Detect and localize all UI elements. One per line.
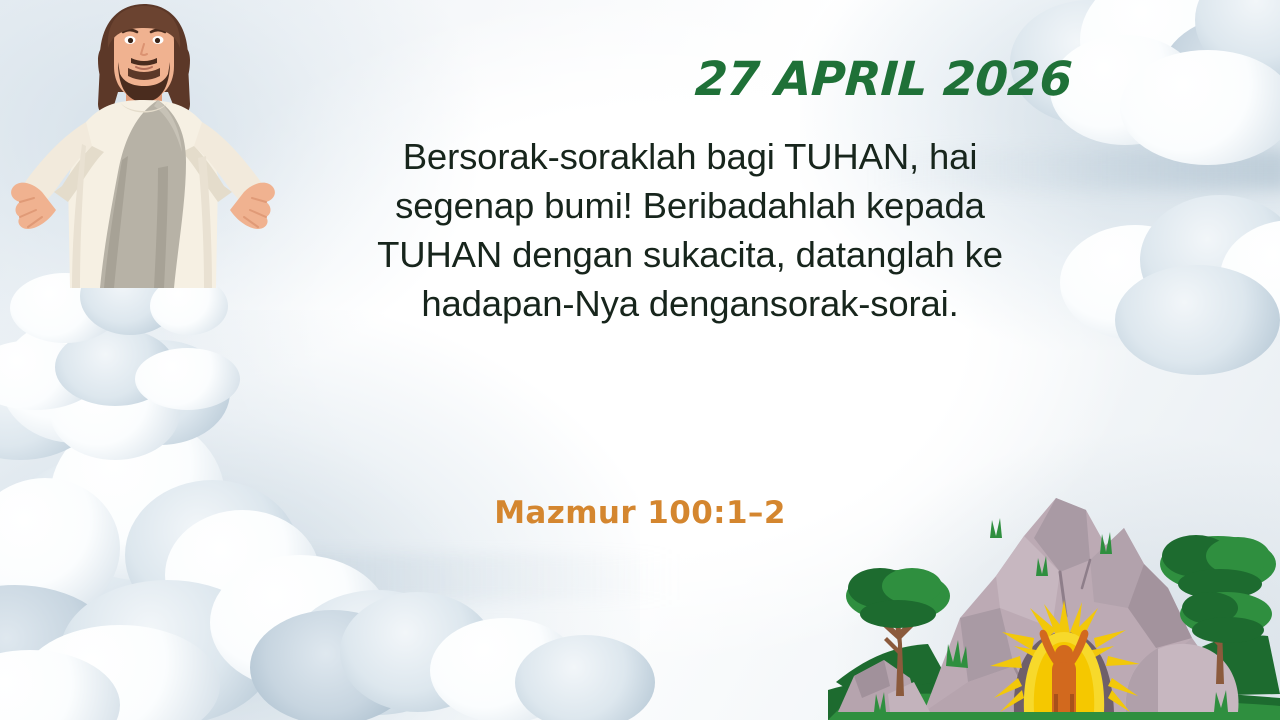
cloud-bank-bottom-center <box>250 580 670 720</box>
verse-line-2: segenap bumi! Beribadahlah kepada <box>310 182 1070 231</box>
jesus-open-arms-illustration <box>8 0 278 288</box>
cloud-bank-mid-right <box>1060 150 1280 380</box>
slide-canvas: 27 APRIL 2026 Bersorak-soraklah bagi TUH… <box>0 0 1280 720</box>
verse-line-3: TUHAN dengan sukacita, datanglah ke <box>310 231 1070 280</box>
scripture-reference: Mazmur 100:1–2 <box>310 495 970 531</box>
verse-line-4: hadapan-Nya dengansorak-sorai. <box>310 280 1070 329</box>
verse-text-block: Bersorak-soraklah bagi TUHAN, hai segena… <box>310 133 1070 329</box>
verse-line-1: Bersorak-soraklah bagi TUHAN, hai <box>310 133 1070 182</box>
date-heading: 27 APRIL 2026 <box>694 56 1073 103</box>
